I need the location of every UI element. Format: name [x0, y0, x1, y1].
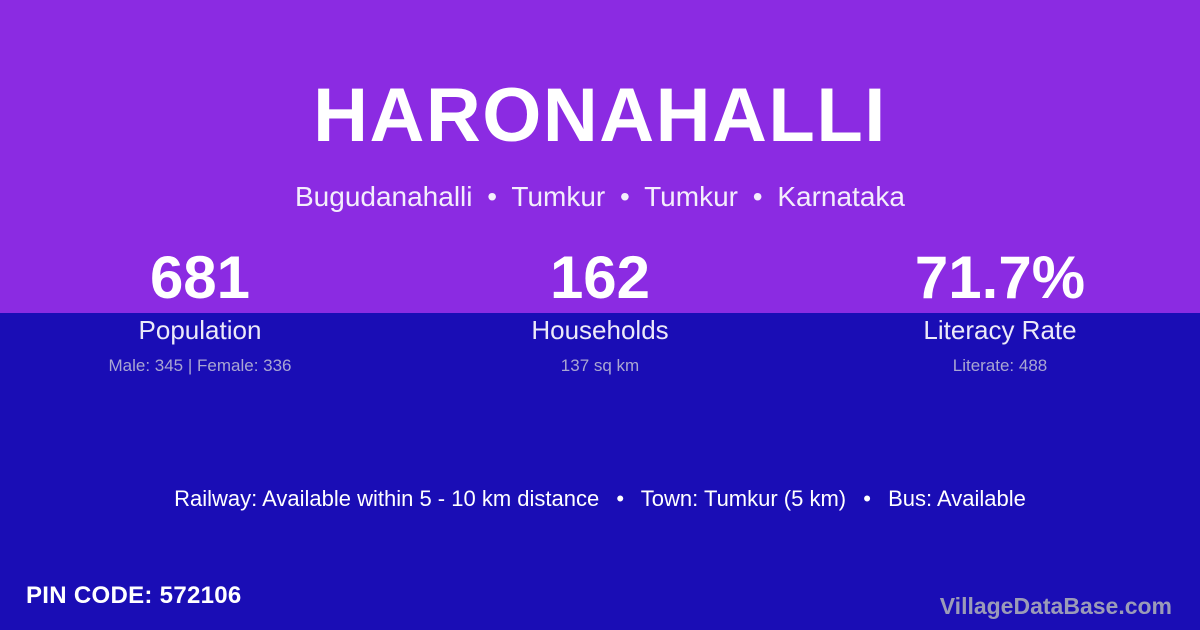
stat-literacy-rate: 71.7% Literacy Rate Literate: 488: [800, 248, 1200, 374]
amenity-town: Town: Tumkur (5 km): [641, 486, 846, 511]
breadcrumb-separator-icon: •: [480, 181, 504, 212]
site-brand-label: VillageDataBase.com: [940, 595, 1172, 618]
card-footer: PIN CODE: 572106 VillageDataBase.com: [0, 558, 1200, 630]
stat-households-label: Households: [400, 317, 800, 343]
stats-row: 681 Population Male: 345 | Female: 336 1…: [0, 248, 1200, 374]
breadcrumb-separator-icon: •: [746, 181, 770, 212]
pin-code-label: PIN CODE: 572106: [26, 584, 242, 608]
amenities-row: Railway: Available within 5 - 10 km dist…: [0, 488, 1200, 510]
village-data-card: HARONAHALLI Bugudanahalli • Tumkur • Tum…: [0, 0, 1200, 630]
stat-literacy-rate-detail: Literate: 488: [800, 357, 1200, 374]
stat-population-value: 681: [0, 248, 400, 310]
stat-households-detail: 137 sq km: [400, 357, 800, 374]
amenity-separator-icon: •: [852, 486, 882, 511]
card-header: HARONAHALLI Bugudanahalli • Tumkur • Tum…: [0, 0, 1200, 211]
stat-population: 681 Population Male: 345 | Female: 336: [0, 248, 400, 374]
stat-households: 162 Households 137 sq km: [400, 248, 800, 374]
breadcrumb-item-gram-panchayat: Bugudanahalli: [295, 181, 473, 212]
stat-literacy-rate-value: 71.7%: [800, 248, 1200, 310]
breadcrumb-separator-icon: •: [613, 181, 637, 212]
stat-population-detail: Male: 345 | Female: 336: [0, 357, 400, 374]
amenity-railway: Railway: Available within 5 - 10 km dist…: [174, 486, 599, 511]
breadcrumb-item-block: Tumkur: [511, 181, 605, 212]
stat-literacy-rate-label: Literacy Rate: [800, 317, 1200, 343]
stat-population-label: Population: [0, 317, 400, 343]
breadcrumb-item-state: Karnataka: [777, 181, 905, 212]
amenity-separator-icon: •: [605, 486, 635, 511]
amenity-bus: Bus: Available: [888, 486, 1026, 511]
breadcrumb: Bugudanahalli • Tumkur • Tumkur • Karnat…: [0, 154, 1200, 211]
breadcrumb-item-district: Tumkur: [644, 181, 738, 212]
page-title: HARONAHALLI: [0, 0, 1200, 154]
stat-households-value: 162: [400, 248, 800, 310]
